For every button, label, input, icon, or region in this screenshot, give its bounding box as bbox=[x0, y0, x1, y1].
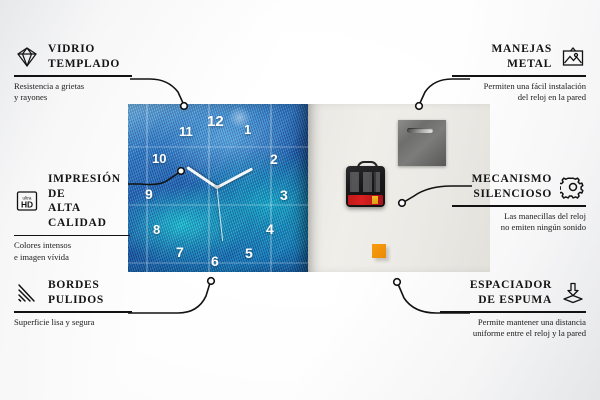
callout-header: ultra HD IMPRESIÓN DE ALTA CALIDAD bbox=[14, 172, 130, 231]
clock-numeral-10: 10 bbox=[152, 152, 166, 165]
diamond-icon bbox=[14, 45, 40, 69]
clock-numeral-3: 3 bbox=[280, 188, 288, 202]
callout-rule bbox=[14, 311, 132, 313]
callout-description: Resistencia a grietas y rayones bbox=[14, 81, 132, 103]
clock-numeral-4: 4 bbox=[266, 222, 274, 236]
clock-hub bbox=[215, 185, 219, 189]
callout-title: VIDRIO TEMPLADO bbox=[48, 42, 120, 71]
callout-vidrio-templado[interactable]: VIDRIO TEMPLADO Resistencia a grietas y … bbox=[14, 42, 132, 103]
callout-title: ESPACIADOR DE ESPUMA bbox=[470, 278, 552, 307]
clock-numeral-1: 1 bbox=[244, 123, 251, 136]
clock-numeral-11: 11 bbox=[179, 125, 193, 138]
clock-numeral-5: 5 bbox=[245, 246, 253, 260]
callout-rule bbox=[452, 205, 586, 207]
gear-icon bbox=[560, 175, 586, 199]
leader-dot-espaciador bbox=[394, 279, 401, 286]
callout-espaciador-de-espuma[interactable]: ESPACIADOR DE ESPUMA Permite mantener un… bbox=[440, 278, 586, 339]
ultra-hd-icon: ultra HD bbox=[14, 189, 40, 213]
callout-title: IMPRESIÓN DE ALTA CALIDAD bbox=[48, 172, 130, 231]
callout-mecanismo-silencioso[interactable]: MECANISMO SILENCIOSO Las manecillas del … bbox=[452, 172, 586, 233]
clock-second-hand bbox=[217, 187, 224, 241]
callout-description: Las manecillas del reloj no emiten ningú… bbox=[452, 211, 586, 233]
callout-description: Colores intensos e imagen vívida bbox=[14, 240, 130, 262]
callout-rule bbox=[440, 311, 586, 313]
mechanism-loop bbox=[357, 161, 378, 171]
callout-header: BORDES PULIDOS bbox=[14, 278, 132, 307]
callout-description: Permite mantener una distancia uniforme … bbox=[440, 317, 586, 339]
callout-rule bbox=[14, 75, 132, 77]
callout-header: ESPACIADOR DE ESPUMA bbox=[440, 278, 586, 307]
callout-title: BORDES PULIDOS bbox=[48, 278, 104, 307]
clock-numeral-7: 7 bbox=[176, 245, 184, 259]
mechanism-label bbox=[348, 195, 383, 205]
clock-face-panel: 12 1 2 3 4 5 6 7 8 9 10 11 bbox=[128, 104, 308, 272]
diagonal-lines-icon bbox=[14, 281, 40, 305]
product-photo: 12 1 2 3 4 5 6 7 8 9 10 11 bbox=[128, 104, 490, 272]
callout-impresion-alta-calidad[interactable]: ultra HD IMPRESIÓN DE ALTA CALIDAD Color… bbox=[14, 172, 130, 263]
clock-numeral-9: 9 bbox=[145, 187, 153, 201]
foam-spacer-part bbox=[372, 244, 386, 258]
callout-description: Permiten una fácil instalación del reloj… bbox=[452, 81, 586, 103]
clock-numeral-6: 6 bbox=[211, 254, 219, 268]
callout-manejas-metal[interactable]: MANEJAS METAL Permiten una fácil instala… bbox=[452, 42, 586, 103]
callout-description: Superficie lisa y segura bbox=[14, 317, 132, 328]
callout-header: MECANISMO SILENCIOSO bbox=[452, 172, 586, 201]
picture-frame-icon bbox=[560, 45, 586, 69]
clock-numeral-12: 12 bbox=[207, 114, 224, 129]
callout-header: VIDRIO TEMPLADO bbox=[14, 42, 132, 71]
product-feature-infographic: 12 1 2 3 4 5 6 7 8 9 10 11 bbox=[0, 0, 600, 400]
clock-minute-hand bbox=[186, 166, 218, 189]
svg-text:HD: HD bbox=[21, 200, 33, 210]
callout-bordes-pulidos[interactable]: BORDES PULIDOS Superficie lisa y segura bbox=[14, 278, 132, 328]
metal-hanger-part bbox=[398, 120, 446, 166]
leader-dot-bordes bbox=[208, 278, 215, 285]
callout-title: MECANISMO SILENCIOSO bbox=[472, 172, 552, 201]
callout-rule bbox=[452, 75, 586, 77]
arrow-down-layer-icon bbox=[560, 281, 586, 305]
callout-title: MANEJAS METAL bbox=[492, 42, 553, 71]
clock-mechanism-part bbox=[346, 166, 385, 207]
callout-header: MANEJAS METAL bbox=[452, 42, 586, 71]
clock-numeral-2: 2 bbox=[270, 152, 278, 166]
clock-hour-hand bbox=[216, 167, 253, 188]
clock-numeral-8: 8 bbox=[153, 223, 160, 236]
callout-rule bbox=[14, 235, 130, 237]
mechanism-detail bbox=[350, 172, 380, 192]
